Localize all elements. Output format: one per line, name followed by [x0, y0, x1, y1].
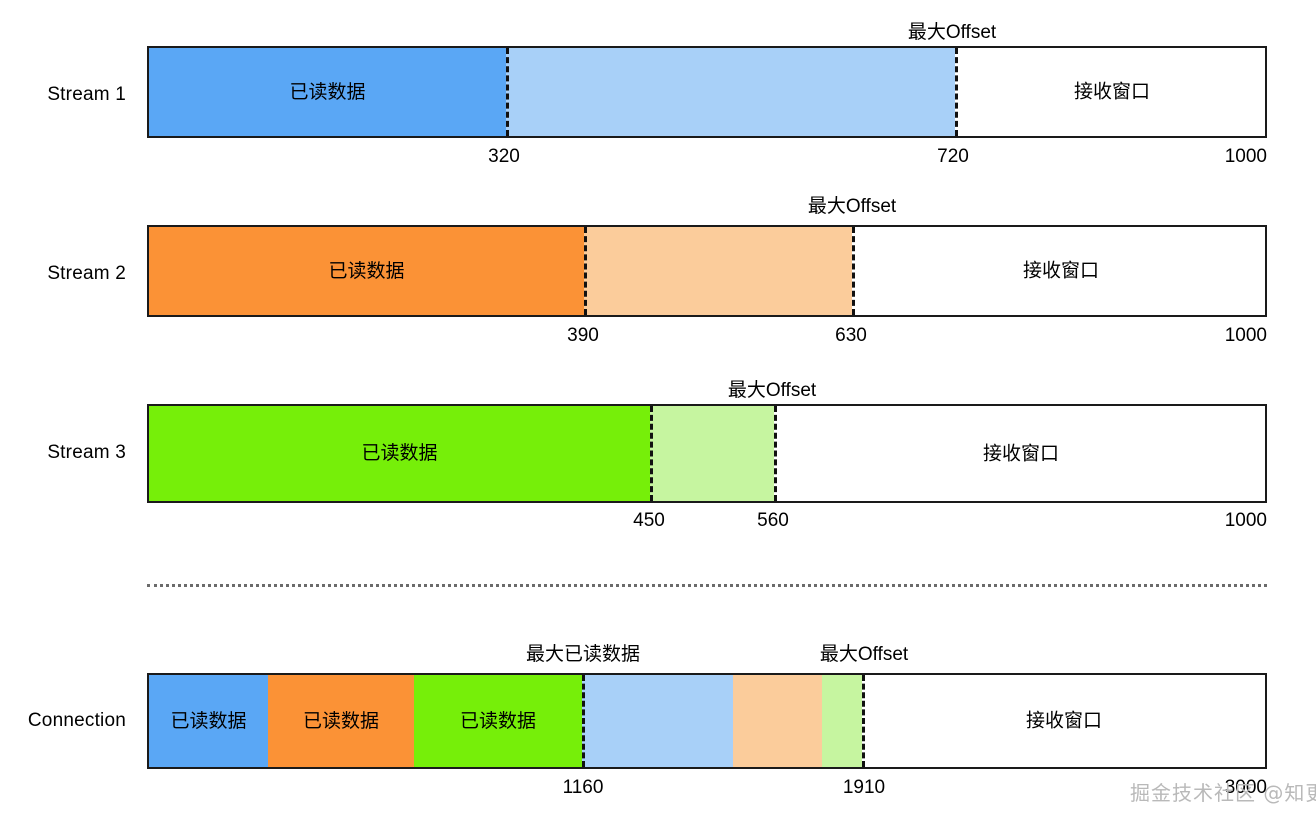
segment-inflight-connection-stream-1	[582, 675, 733, 767]
segment-read-label-stream-2: 已读数据	[328, 262, 404, 281]
watermark-text: 掘金技术社区 @知更	[1130, 777, 1316, 806]
caption-stream-2-max-offset: 最大Offset	[808, 197, 896, 216]
dash-marker-offset-stream-3	[774, 406, 777, 501]
window-label-connection: 接收窗口	[1026, 712, 1102, 731]
bar-fills-stream-2: 已读数据	[149, 227, 852, 315]
segment-read-connection-stream-3: 已读数据	[414, 675, 582, 767]
bar-track-stream-2: 已读数据 接收窗口	[147, 225, 1267, 317]
tick-connection-b: 1910	[843, 778, 885, 797]
segment-read-connection-stream-2: 已读数据	[268, 675, 414, 767]
segment-read-connection-stream-1: 已读数据	[149, 675, 268, 767]
segment-inflight-stream-2	[584, 227, 852, 315]
dash-marker-read-stream-2	[584, 227, 587, 315]
row-label-connection: Connection	[0, 710, 126, 732]
segment-inflight-connection-stream-2	[733, 675, 822, 767]
caption-connection-max-offset: 最大Offset	[820, 645, 908, 664]
caption-stream-1-max-offset: 最大Offset	[908, 23, 996, 42]
segment-inflight-connection-stream-3	[822, 675, 862, 767]
diagram-canvas: Stream 1 最大Offset 已读数据 接收窗口 320 720 1000…	[0, 0, 1316, 824]
segment-inflight-stream-3	[650, 406, 774, 501]
bar-track-stream-3: 已读数据 接收窗口	[147, 404, 1267, 503]
segment-read-stream-3: 已读数据	[149, 406, 650, 501]
dash-marker-offset-stream-1	[955, 48, 958, 136]
row-label-stream-1: Stream 1	[0, 84, 126, 106]
section-divider	[147, 584, 1267, 587]
tick-stream-2-end: 1000	[1225, 326, 1267, 345]
tick-stream-1-b: 720	[937, 147, 969, 166]
tick-stream-1-end: 1000	[1225, 147, 1267, 166]
window-label-stream-2: 接收窗口	[1023, 262, 1099, 281]
tick-connection-a: 1160	[563, 778, 604, 797]
bar-fills-stream-3: 已读数据	[149, 406, 774, 501]
dash-marker-read-connection	[582, 675, 585, 767]
window-label-stream-1: 接收窗口	[1074, 83, 1150, 102]
tick-stream-2-a: 390	[567, 326, 599, 345]
segment-read-label-connection-3: 已读数据	[460, 712, 536, 731]
tick-stream-3-end: 1000	[1225, 511, 1267, 530]
bar-fills-stream-1: 已读数据	[149, 48, 955, 136]
dash-marker-offset-stream-2	[852, 227, 855, 315]
segment-inflight-stream-1	[506, 48, 955, 136]
segment-read-label-connection-2: 已读数据	[303, 712, 379, 731]
tick-stream-2-b: 630	[835, 326, 867, 345]
window-label-stream-3: 接收窗口	[983, 444, 1059, 463]
caption-stream-3-max-offset: 最大Offset	[728, 381, 816, 400]
tick-stream-1-a: 320	[488, 147, 520, 166]
tick-stream-3-b: 560	[757, 511, 789, 530]
segment-read-stream-2: 已读数据	[149, 227, 584, 315]
dash-marker-read-stream-1	[506, 48, 509, 136]
row-label-stream-3: Stream 3	[0, 442, 126, 464]
segment-read-label-connection-1: 已读数据	[170, 712, 246, 731]
segment-read-stream-1: 已读数据	[149, 48, 506, 136]
tick-stream-3-a: 450	[633, 511, 665, 530]
bar-track-stream-1: 已读数据 接收窗口	[147, 46, 1267, 138]
segment-read-label-stream-1: 已读数据	[289, 83, 365, 102]
bar-fills-connection: 已读数据 已读数据 已读数据	[149, 675, 862, 767]
segment-read-label-stream-3: 已读数据	[361, 444, 437, 463]
row-label-stream-2: Stream 2	[0, 263, 126, 285]
bar-track-connection: 已读数据 已读数据 已读数据 接收窗口	[147, 673, 1267, 769]
caption-connection-max-read-data: 最大已读数据	[526, 645, 640, 664]
dash-marker-offset-connection	[862, 675, 865, 767]
dash-marker-read-stream-3	[650, 406, 653, 501]
